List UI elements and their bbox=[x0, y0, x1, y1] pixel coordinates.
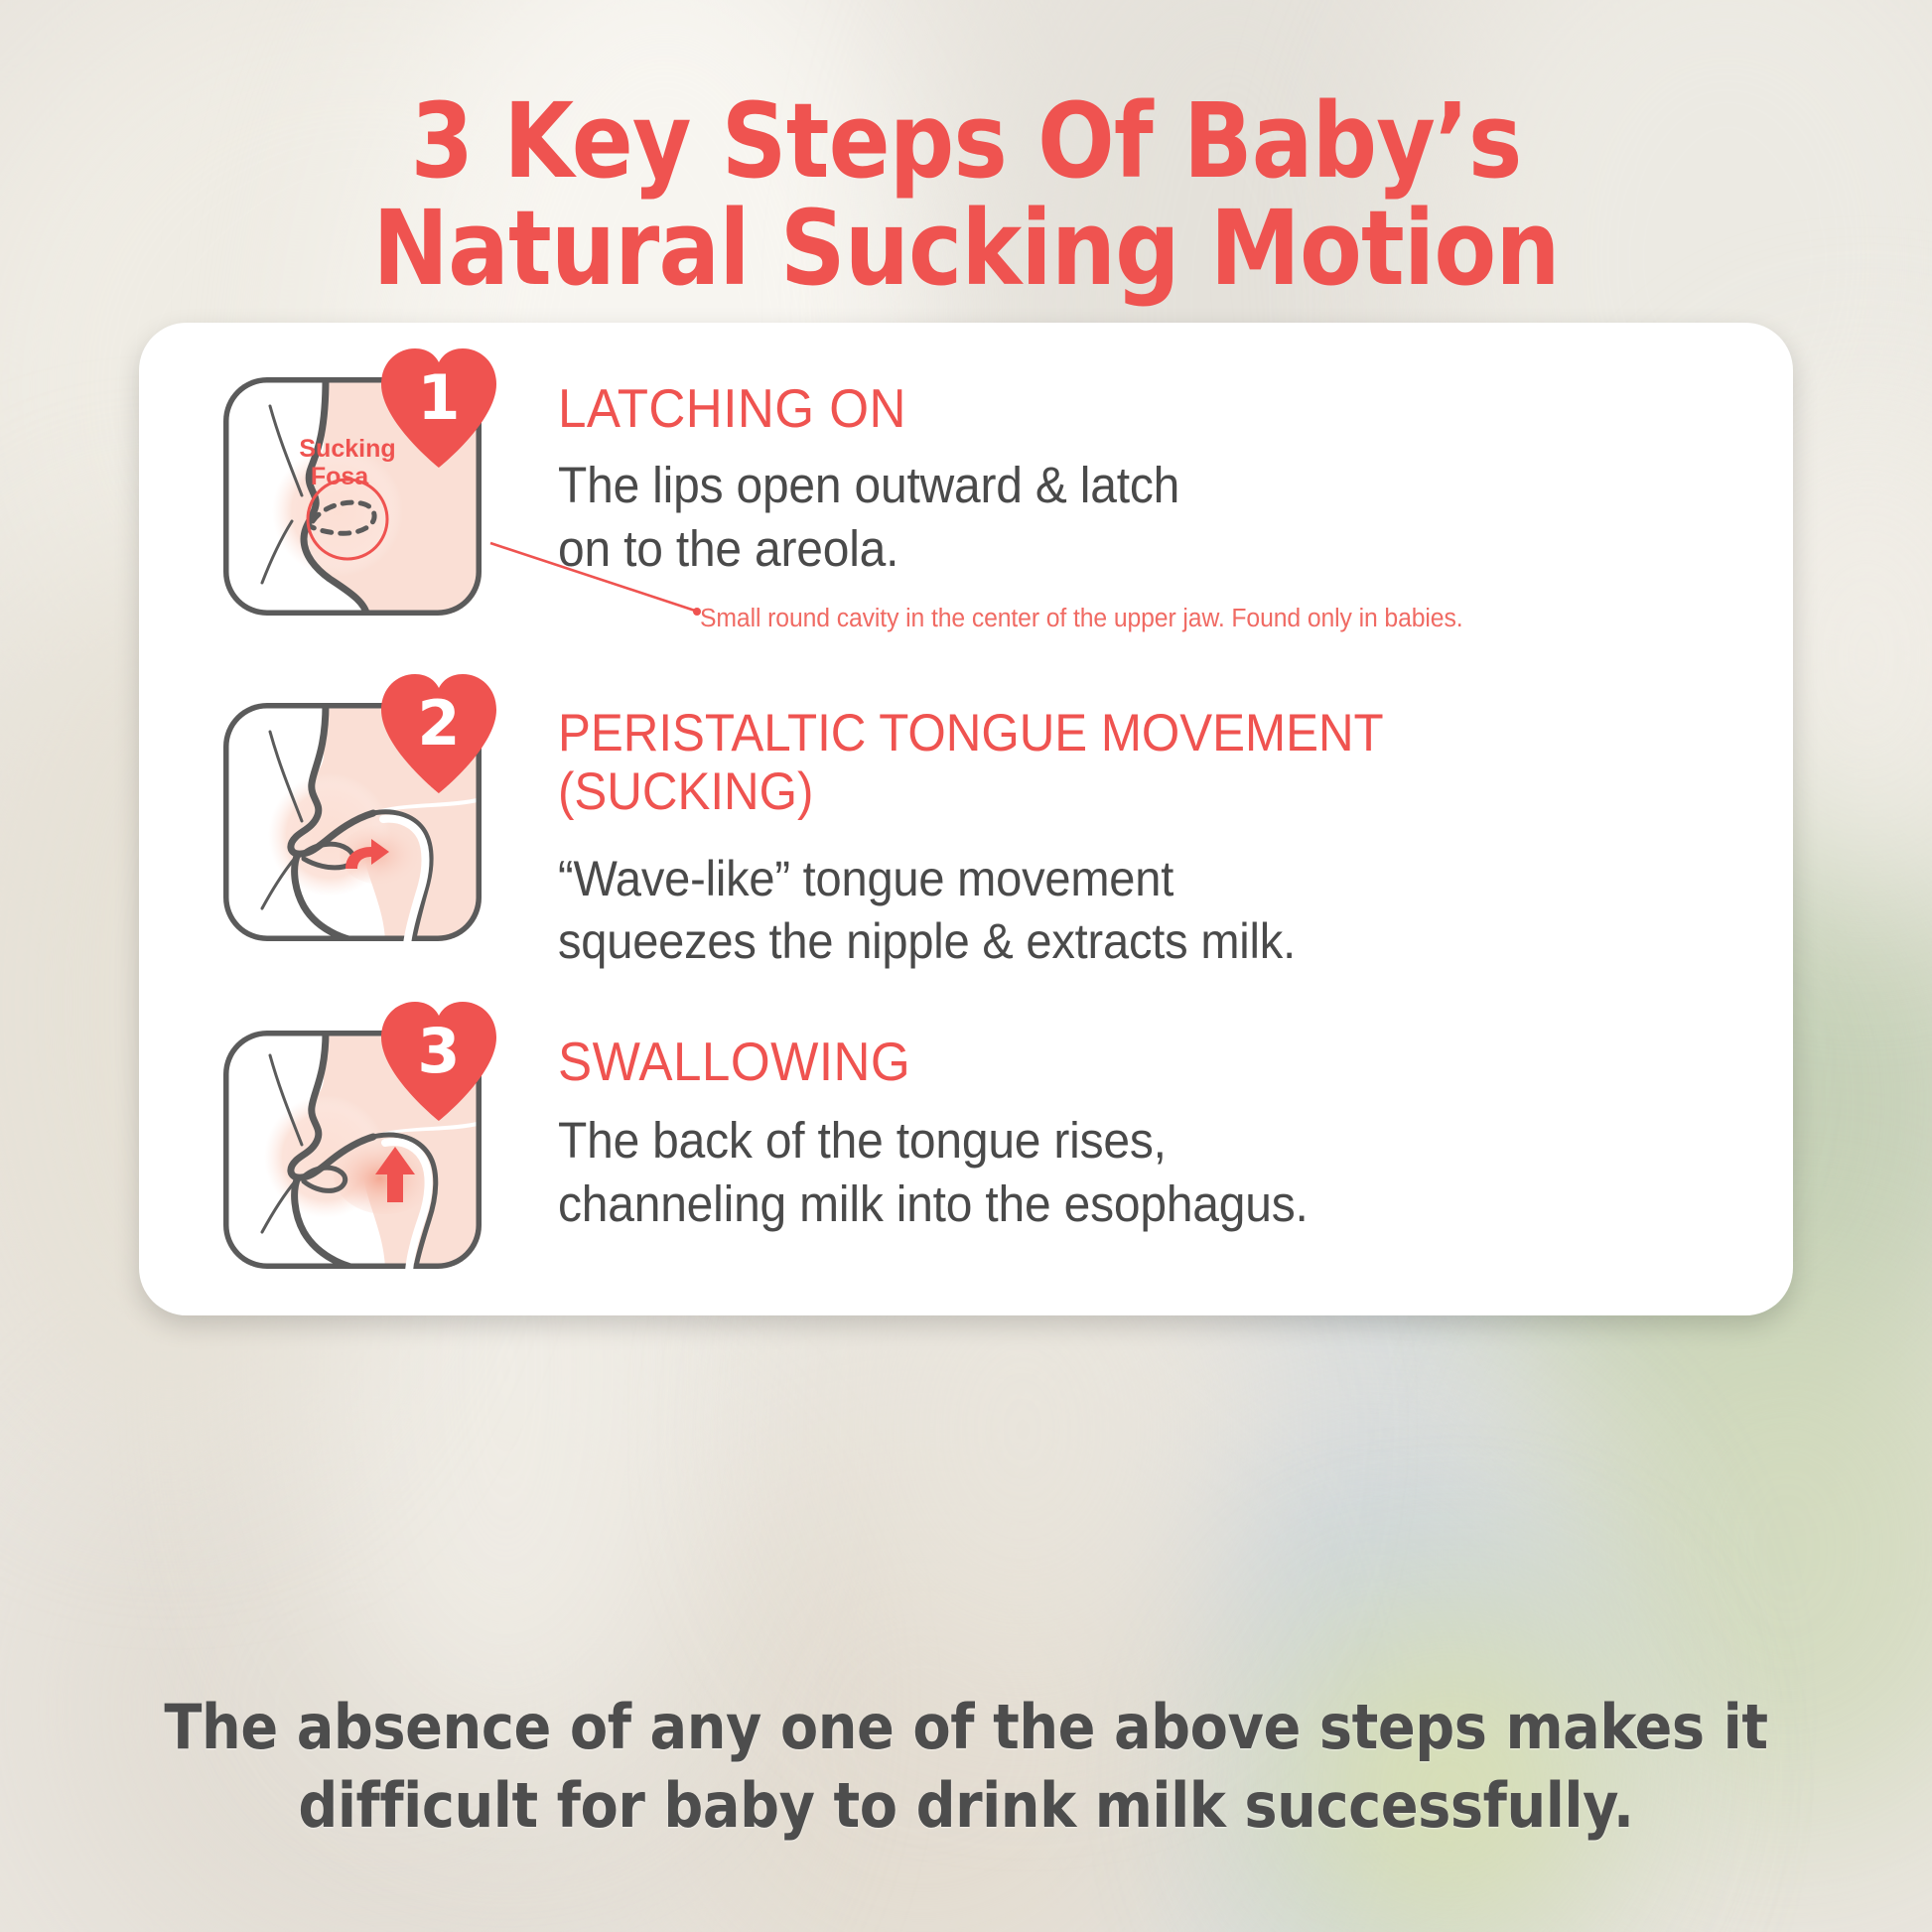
footer-line-2: difficult for baby to drink milk success… bbox=[96, 1766, 1835, 1845]
step-badge-2: 2 bbox=[375, 670, 502, 797]
step-badge-number-1: 1 bbox=[375, 345, 502, 472]
step-3-text: SWALLOWING The back of the tongue rises,… bbox=[516, 998, 1793, 1236]
step-1-heading: LATCHING ON bbox=[558, 378, 1670, 440]
footer-line-1: The absence of any one of the above step… bbox=[96, 1688, 1835, 1766]
sucking-fosa-label-line-2: Fosa bbox=[311, 463, 369, 490]
footnote-leader-line bbox=[488, 539, 727, 628]
steps-card: Sucking Fosa 1 LATCHING ON The lips open… bbox=[139, 323, 1793, 1315]
step-3-illustration-wrap: 3 bbox=[218, 998, 516, 1276]
footer-note: The absence of any one of the above step… bbox=[96, 1688, 1835, 1846]
step-row-2: 2 PERISTALTIC TONGUE MOVEMENT (SUCKING) … bbox=[139, 670, 1793, 988]
step-badge-number-3: 3 bbox=[375, 998, 502, 1125]
step-1-illustration-wrap: Sucking Fosa 1 bbox=[218, 345, 516, 622]
step-2-illustration-wrap: 2 bbox=[218, 670, 516, 948]
page-title-line-1: 3 Key Steps Of Baby’s bbox=[116, 87, 1816, 195]
step-badge-number-2: 2 bbox=[375, 670, 502, 797]
step-badge-3: 3 bbox=[375, 998, 502, 1125]
step-row-3: 3 SWALLOWING The back of the tongue rise… bbox=[139, 998, 1793, 1315]
page-title: 3 Key Steps Of Baby’s Natural Sucking Mo… bbox=[116, 87, 1816, 302]
step-2-heading: PERISTALTIC TONGUE MOVEMENT (SUCKING) bbox=[558, 704, 1670, 822]
step-row-1: Sucking Fosa 1 LATCHING ON The lips open… bbox=[139, 345, 1793, 662]
step-2-body: “Wave-like” tongue movement squeezes the… bbox=[558, 848, 1682, 973]
step-1-footnote: Small round cavity in the center of the … bbox=[700, 605, 1462, 633]
step-3-heading: SWALLOWING bbox=[558, 1032, 1670, 1093]
infographic-page: 3 Key Steps Of Baby’s Natural Sucking Mo… bbox=[0, 0, 1932, 1932]
step-3-body: The back of the tongue rises, channeling… bbox=[558, 1109, 1682, 1237]
step-2-text: PERISTALTIC TONGUE MOVEMENT (SUCKING) “W… bbox=[516, 670, 1793, 973]
step-badge-1: 1 bbox=[375, 345, 502, 472]
page-title-line-2: Natural Sucking Motion bbox=[116, 195, 1816, 302]
